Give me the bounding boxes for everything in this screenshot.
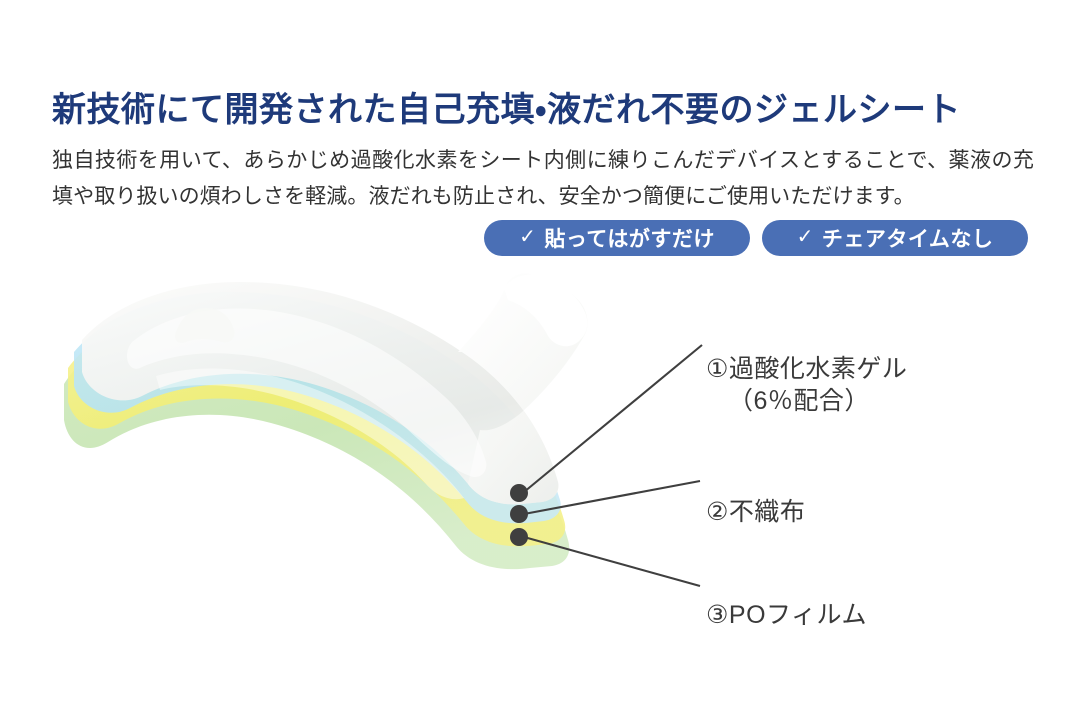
callout-label-1-main: ①過酸化水素ゲル <box>706 355 907 383</box>
callout-label-3-main: ③POフィルム <box>706 601 867 629</box>
badge-sticker-only[interactable]: ✓ 貼ってはがすだけ <box>484 220 750 256</box>
badge-label: 貼ってはがすだけ <box>544 223 715 253</box>
product-illustration <box>60 272 720 632</box>
check-icon: ✓ <box>519 227 536 247</box>
callout-label-2-main: ②不織布 <box>706 498 805 526</box>
body-paragraph: 独自技術を用いて、あらかじめ過酸化水素をシート内側に練りこんだデバイスとすること… <box>52 143 1034 215</box>
callout-label-1: ①過酸化水素ゲル （6％配合） <box>706 320 907 450</box>
badge-label: チェアタイムなし <box>822 223 994 253</box>
feature-badge-row: ✓ 貼ってはがすだけ ✓ チェアタイムなし <box>484 220 1028 256</box>
callout-label-2: ②不織布 <box>706 463 805 528</box>
page-title: 新技術にて開発された自己充填・液だれ不要のジェルシート <box>52 91 1042 130</box>
check-icon: ✓ <box>797 227 814 247</box>
callout-label-1-sub: （6％配合） <box>706 385 907 418</box>
page-root: 新技術にて開発された自己充填・液だれ不要のジェルシート 独自技術を用いて、あらか… <box>0 0 1080 720</box>
badge-no-chair-time[interactable]: ✓ チェアタイムなし <box>762 220 1028 256</box>
callout-label-3: ③POフィルム <box>706 566 867 631</box>
